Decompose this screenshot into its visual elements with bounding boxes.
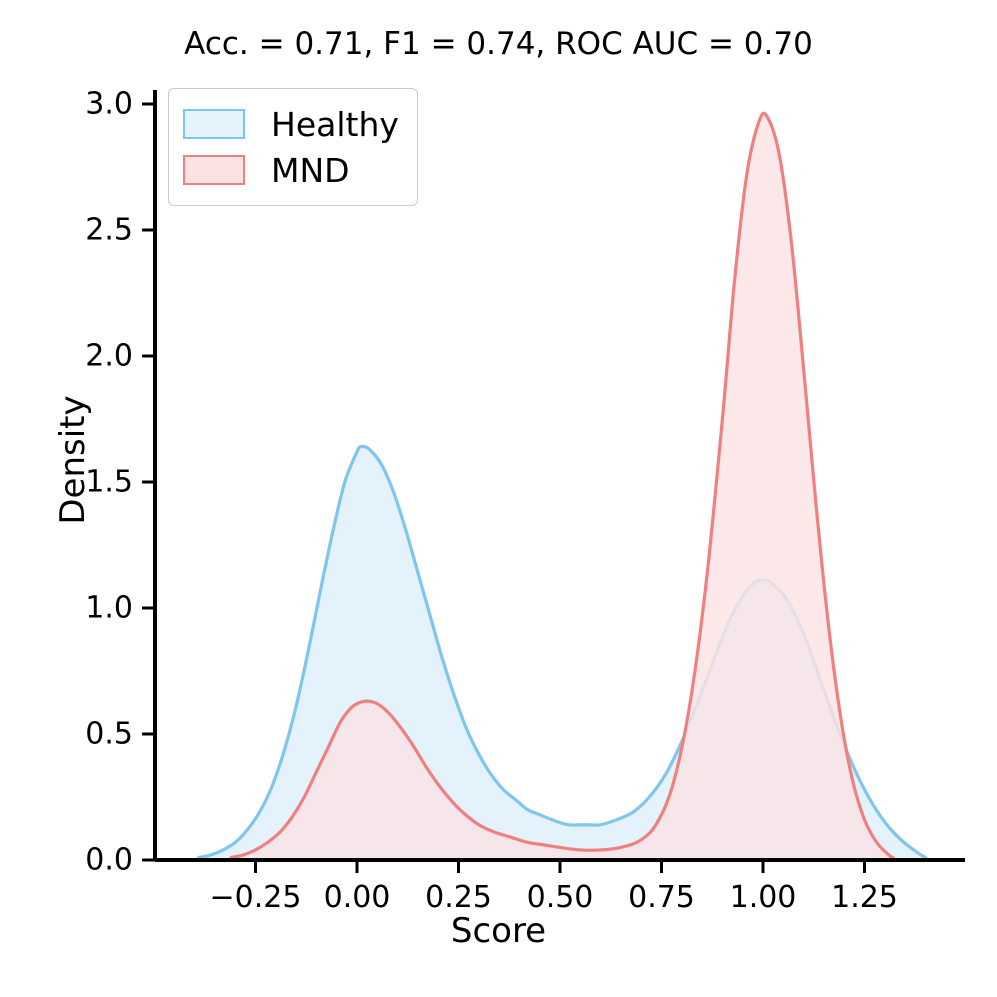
y-axis-label: Density: [53, 210, 93, 710]
legend-swatch-mnd: [183, 155, 245, 185]
legend-item-healthy: Healthy: [183, 101, 399, 147]
y-tick-label: 3.0: [85, 87, 133, 122]
legend-item-mnd: MND: [183, 147, 399, 193]
x-tick-label: 0.25: [425, 880, 492, 915]
x-tick-label: 1.25: [831, 880, 898, 915]
x-tick-label: 0.50: [527, 880, 594, 915]
x-axis-label: Score: [0, 911, 997, 951]
y-tick-label: 0.0: [85, 843, 133, 878]
x-tick-label: 1.00: [730, 880, 797, 915]
density-plot-figure: Acc. = 0.71, F1 = 0.74, ROC AUC = 0.70 0…: [0, 0, 997, 997]
legend-swatch-healthy: [183, 109, 245, 139]
plot-canvas: [0, 0, 997, 997]
legend-label-mnd: MND: [271, 154, 350, 187]
legend: Healthy MND: [168, 88, 418, 206]
density-areas: [199, 113, 926, 860]
x-tick-label: 0.75: [628, 880, 695, 915]
x-tick-label: −0.25: [210, 880, 302, 915]
legend-label-healthy: Healthy: [271, 108, 399, 141]
x-tick-label: 0.00: [324, 880, 391, 915]
y-tick-label: 0.5: [85, 717, 133, 752]
density-fill-mnd: [231, 113, 893, 860]
